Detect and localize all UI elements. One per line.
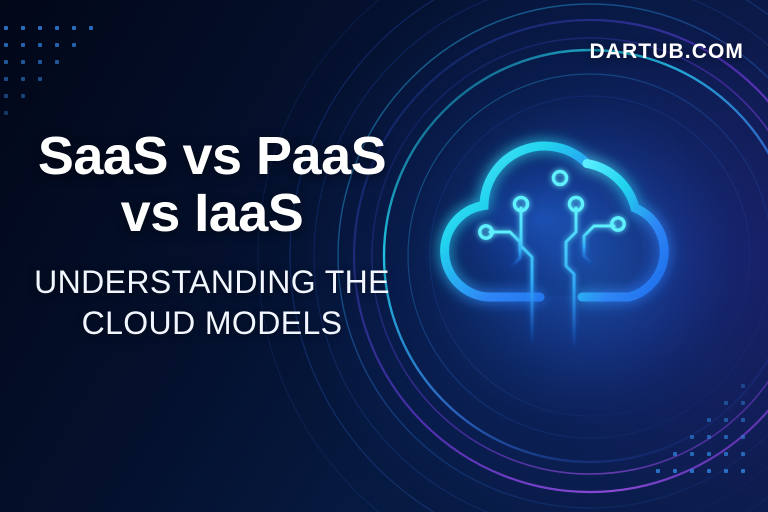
decor-dot (21, 43, 25, 47)
title-block: SaaS vs PaaS vs IaaS UNDERSTANDING THE C… (0, 128, 424, 343)
decor-dot (21, 60, 25, 64)
decor-dot (4, 43, 8, 47)
decor-dot (690, 435, 694, 439)
decor-dot (4, 111, 8, 115)
decor-dot (673, 469, 677, 473)
decor-dot (707, 435, 711, 439)
decor-dot (741, 452, 745, 456)
decor-dot (724, 469, 728, 473)
decor-dot (741, 418, 745, 422)
decor-dot (707, 469, 711, 473)
subtitle-line-1: UNDERSTANDING THE (34, 264, 390, 300)
decor-dot (4, 60, 8, 64)
decor-dot (4, 94, 8, 98)
decor-dot (724, 418, 728, 422)
title-line-1: SaaS vs PaaS (38, 126, 386, 186)
decor-dot (55, 26, 59, 30)
title-line-2: vs IaaS (0, 185, 424, 242)
decor-dot (21, 26, 25, 30)
decor-dot (690, 452, 694, 456)
decor-dot (55, 43, 59, 47)
subtitle-line-2: CLOUD MODELS (0, 303, 424, 343)
decor-dot (4, 77, 8, 81)
brand-logo-text: DARTUB.COM (590, 40, 744, 64)
decor-dot (741, 469, 745, 473)
page-title: SaaS vs PaaS vs IaaS (0, 128, 424, 242)
decor-dot (38, 43, 42, 47)
decor-dot (707, 418, 711, 422)
decor-dot (21, 94, 25, 98)
decor-dot (55, 60, 59, 64)
decor-dot (690, 469, 694, 473)
page-subtitle: UNDERSTANDING THE CLOUD MODELS (0, 262, 424, 343)
decor-dot (38, 26, 42, 30)
decor-dot (72, 43, 76, 47)
poster-canvas: DARTUB.COM SaaS vs PaaS vs IaaS UNDERSTA… (0, 0, 768, 512)
decor-dot (724, 435, 728, 439)
decor-dot (724, 452, 728, 456)
decor-dot (707, 452, 711, 456)
decor-dot (656, 469, 660, 473)
decor-dot (38, 77, 42, 81)
decor-dot (21, 77, 25, 81)
decor-dot (38, 60, 42, 64)
decor-dot (89, 26, 93, 30)
decor-dot (673, 452, 677, 456)
decor-dot (72, 26, 76, 30)
cloud-circuit-icon (414, 96, 768, 416)
dot-grid-top-left (4, 26, 110, 132)
decor-dot (741, 435, 745, 439)
decor-dot (4, 26, 8, 30)
